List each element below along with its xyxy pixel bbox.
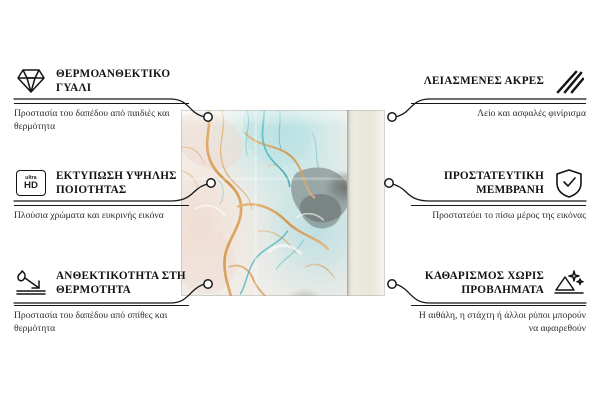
feature-heat-resistance: ΑΝΘΕΚΤΙΚΟΤΗΤΑ ΣΤΗ ΘΕΡΜΟΤΗΤΑ Προστασία το… (14, 266, 189, 336)
infographic-root: ΘΕΡΜΟΑΝΘΕΚΤΙΚΟ ΓΥΑΛΙ Προστασία του δαπέδ… (0, 0, 600, 400)
feature-description: Προστασία του δαπέδου από σπίθες και θερ… (14, 310, 189, 336)
feature-rule (14, 305, 189, 306)
shield-check-icon (552, 167, 586, 199)
feature-title: ΚΑΘΑΡΙΣΜΟΣ ΧΩΡΙΣ ΠΡΟΒΛΗΜΑΤΑ (411, 269, 544, 297)
diamond-icon (14, 65, 48, 97)
product-image (181, 110, 385, 296)
feature-title: ΛΕΙΑΣΜΕΝΕΣ ΑΚΡΕΣ (424, 74, 544, 88)
product-border (181, 110, 385, 296)
feature-description: Προστασία του δαπέδου από παιδιές και θε… (14, 108, 189, 134)
feature-header: ultra HD ΕΚΤΥΠΩΣΗ ΥΨΗΛΗΣ ΠΟΙΟΤΗΤΑΣ (14, 166, 189, 200)
feature-title: ΘΕΡΜΟΑΝΘΕΚΤΙΚΟ ΓΥΑΛΙ (56, 67, 189, 95)
feature-protective-film: ΠΡΟΣΤΑΤΕΥΤΙΚΗ ΜΕΜΒΡΑΝΗ Προστατεύει το πί… (411, 166, 586, 223)
feature-heat-resistant-glass: ΘΕΡΜΟΑΝΘΕΚΤΙΚΟ ΓΥΑΛΙ Προστασία του δαπέδ… (14, 64, 189, 134)
hd-label: HD (24, 181, 38, 191)
feature-title: ΕΚΤΥΠΩΣΗ ΥΨΗΛΗΣ ΠΟΙΟΤΗΤΑΣ (56, 169, 189, 197)
feature-header: ΠΡΟΣΤΑΤΕΥΤΙΚΗ ΜΕΜΒΡΑΝΗ (411, 166, 586, 200)
feature-header: ΑΝΘΕΚΤΙΚΟΤΗΤΑ ΣΤΗ ΘΕΡΜΟΤΗΤΑ (14, 266, 189, 300)
feature-rule (411, 205, 586, 206)
connector-dot (385, 179, 393, 187)
connector-dot (388, 113, 396, 121)
feature-rule (14, 205, 189, 206)
polished-edges-icon (552, 65, 586, 97)
feature-header: ΛΕΙΑΣΜΕΝΕΣ ΑΚΡΕΣ (411, 64, 586, 98)
heat-resistance-icon (14, 267, 48, 299)
feature-rule (411, 103, 586, 104)
feature-description: Πλούσια χρώματα και ευκρινής εικόνα (14, 210, 189, 223)
feature-header: ΚΑΘΑΡΙΣΜΟΣ ΧΩΡΙΣ ΠΡΟΒΛΗΜΑΤΑ (411, 266, 586, 300)
feature-header: ΘΕΡΜΟΑΝΘΕΚΤΙΚΟ ΓΥΑΛΙ (14, 64, 189, 98)
feature-description: Η αιθάλη, η στάχτη ή άλλοι ρύποι μπορούν… (411, 310, 586, 336)
feature-rule (14, 103, 189, 104)
feature-description: Λείο και ασφαλές φινίρισμα (411, 108, 586, 121)
feature-title: ΠΡΟΣΤΑΤΕΥΤΙΚΗ ΜΕΜΒΡΑΝΗ (411, 169, 544, 197)
connector-dot (388, 280, 396, 288)
ultra-hd-icon: ultra HD (14, 167, 48, 199)
feature-easy-cleaning: ΚΑΘΑΡΙΣΜΟΣ ΧΩΡΙΣ ΠΡΟΒΛΗΜΑΤΑ Η αιθάλη, η … (411, 266, 586, 336)
feature-high-quality-print: ultra HD ΕΚΤΥΠΩΣΗ ΥΨΗΛΗΣ ΠΟΙΟΤΗΤΑΣ Πλούσ… (14, 166, 189, 223)
feature-rule (411, 305, 586, 306)
feature-polished-edges: ΛΕΙΑΣΜΕΝΕΣ ΑΚΡΕΣ Λείο και ασφαλές φινίρι… (411, 64, 586, 121)
feature-description: Προστατεύει το πίσω μέρος της εικόνας (411, 210, 586, 223)
easy-cleaning-icon (552, 267, 586, 299)
feature-title: ΑΝΘΕΚΤΙΚΟΤΗΤΑ ΣΤΗ ΘΕΡΜΟΤΗΤΑ (56, 269, 189, 297)
